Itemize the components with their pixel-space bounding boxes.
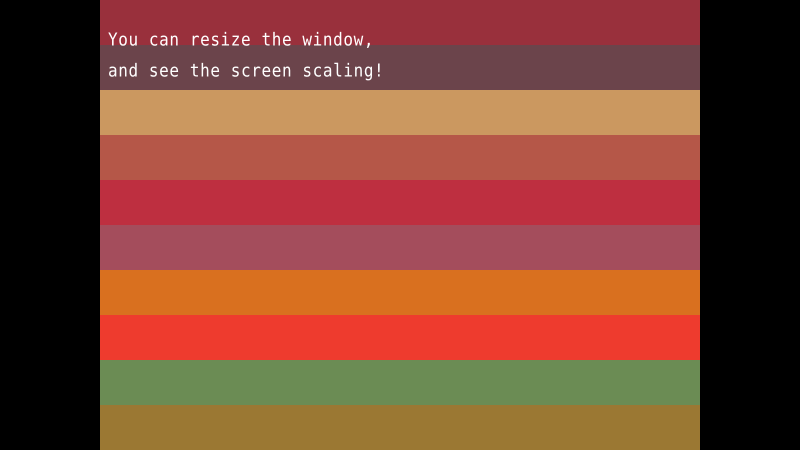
letterbox-bar-left (0, 0, 100, 450)
band-dark-crimson (100, 0, 700, 45)
band-terracotta (100, 135, 700, 180)
band-dark-gold (100, 405, 700, 450)
band-tan (100, 90, 700, 135)
scaled-game-viewport (100, 0, 700, 450)
band-crimson (100, 180, 700, 225)
band-bright-red (100, 315, 700, 360)
letterbox-bar-right (700, 0, 800, 450)
band-dusty-rose (100, 225, 700, 270)
color-band-stack (100, 0, 700, 450)
band-orange (100, 270, 700, 315)
app-window: You can resize the window, and see the s… (0, 0, 800, 450)
band-olive-green (100, 360, 700, 405)
band-muted-plum (100, 45, 700, 90)
